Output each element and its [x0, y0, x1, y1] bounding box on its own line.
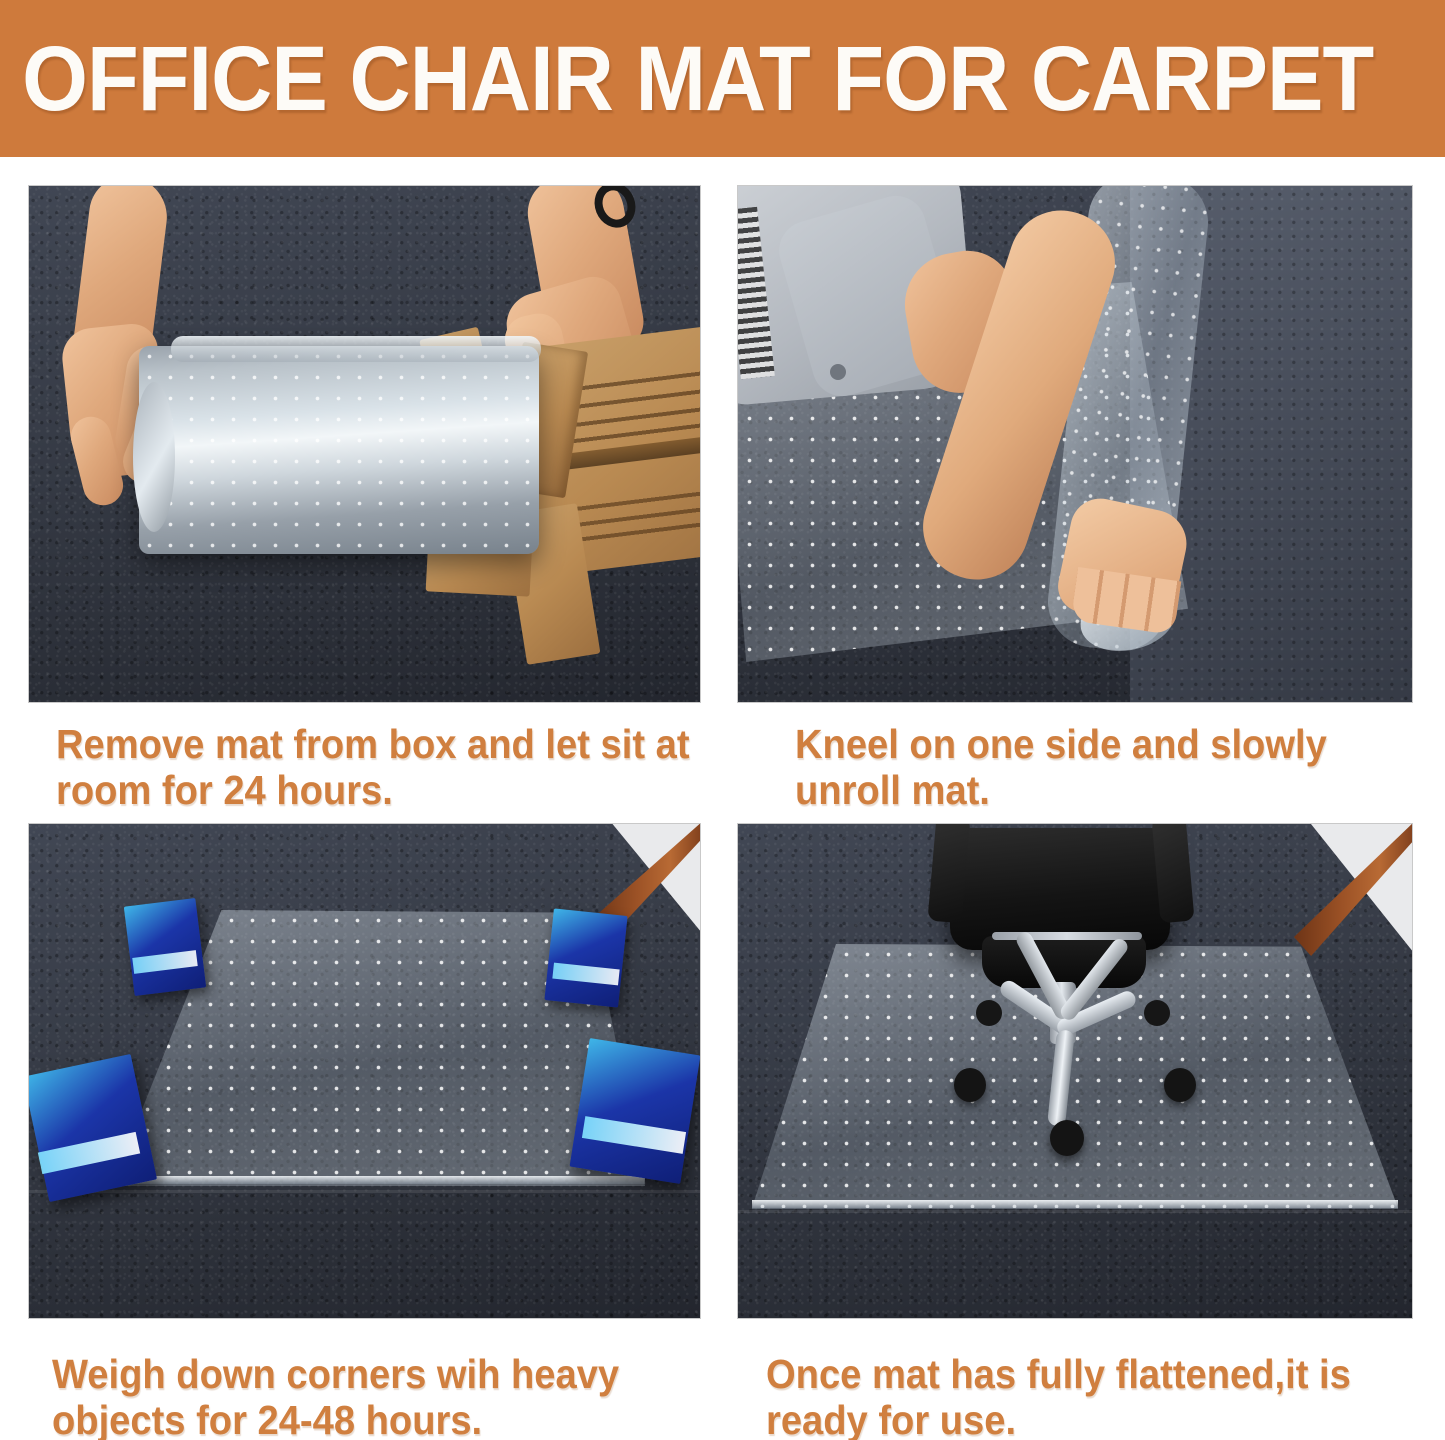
- flattened-mat-front-edge: [752, 1200, 1398, 1209]
- paper-ream-top-left: [124, 898, 206, 996]
- step-4-photo: [737, 823, 1413, 1319]
- step-2-caption: Kneel on one side and slowly unroll mat.: [795, 722, 1409, 814]
- rolled-mat-end-cap: [133, 382, 175, 532]
- step-2-photo: [737, 185, 1413, 703]
- carpet-seam: [738, 1210, 1412, 1213]
- shorts-snap-button: [830, 364, 846, 380]
- flat-mat-front-edge: [97, 1176, 645, 1184]
- castor-wheel-rear-left: [976, 1000, 1002, 1026]
- castor-wheel-rear-right: [1144, 1000, 1170, 1026]
- step-3-caption: Weigh down corners wih heavy objects for…: [52, 1352, 712, 1440]
- rolled-mat-top-edge: [171, 336, 541, 362]
- step-4-caption: Once mat has fully flattened,it is ready…: [766, 1352, 1426, 1440]
- rolled-mat-studs: [139, 346, 539, 554]
- castor-wheel-center-front: [1050, 1120, 1084, 1156]
- paper-ream-top-right: [544, 908, 627, 1007]
- carpet-seam: [29, 1190, 700, 1193]
- page-title: OFFICE CHAIR MAT FOR CARPET: [0, 33, 1373, 125]
- step-1-photo: [28, 185, 701, 703]
- infographic-page: OFFICE CHAIR MAT FOR CARPET: [0, 0, 1445, 1440]
- castor-wheel-front-left: [954, 1068, 986, 1102]
- header-banner: OFFICE CHAIR MAT FOR CARPET: [0, 0, 1445, 157]
- step-3-photo: [28, 823, 701, 1319]
- castor-wheel-front-right: [1164, 1068, 1196, 1102]
- step-1-caption: Remove mat from box and let sit at room …: [56, 722, 707, 814]
- paper-ream-bottom-right: [570, 1038, 701, 1184]
